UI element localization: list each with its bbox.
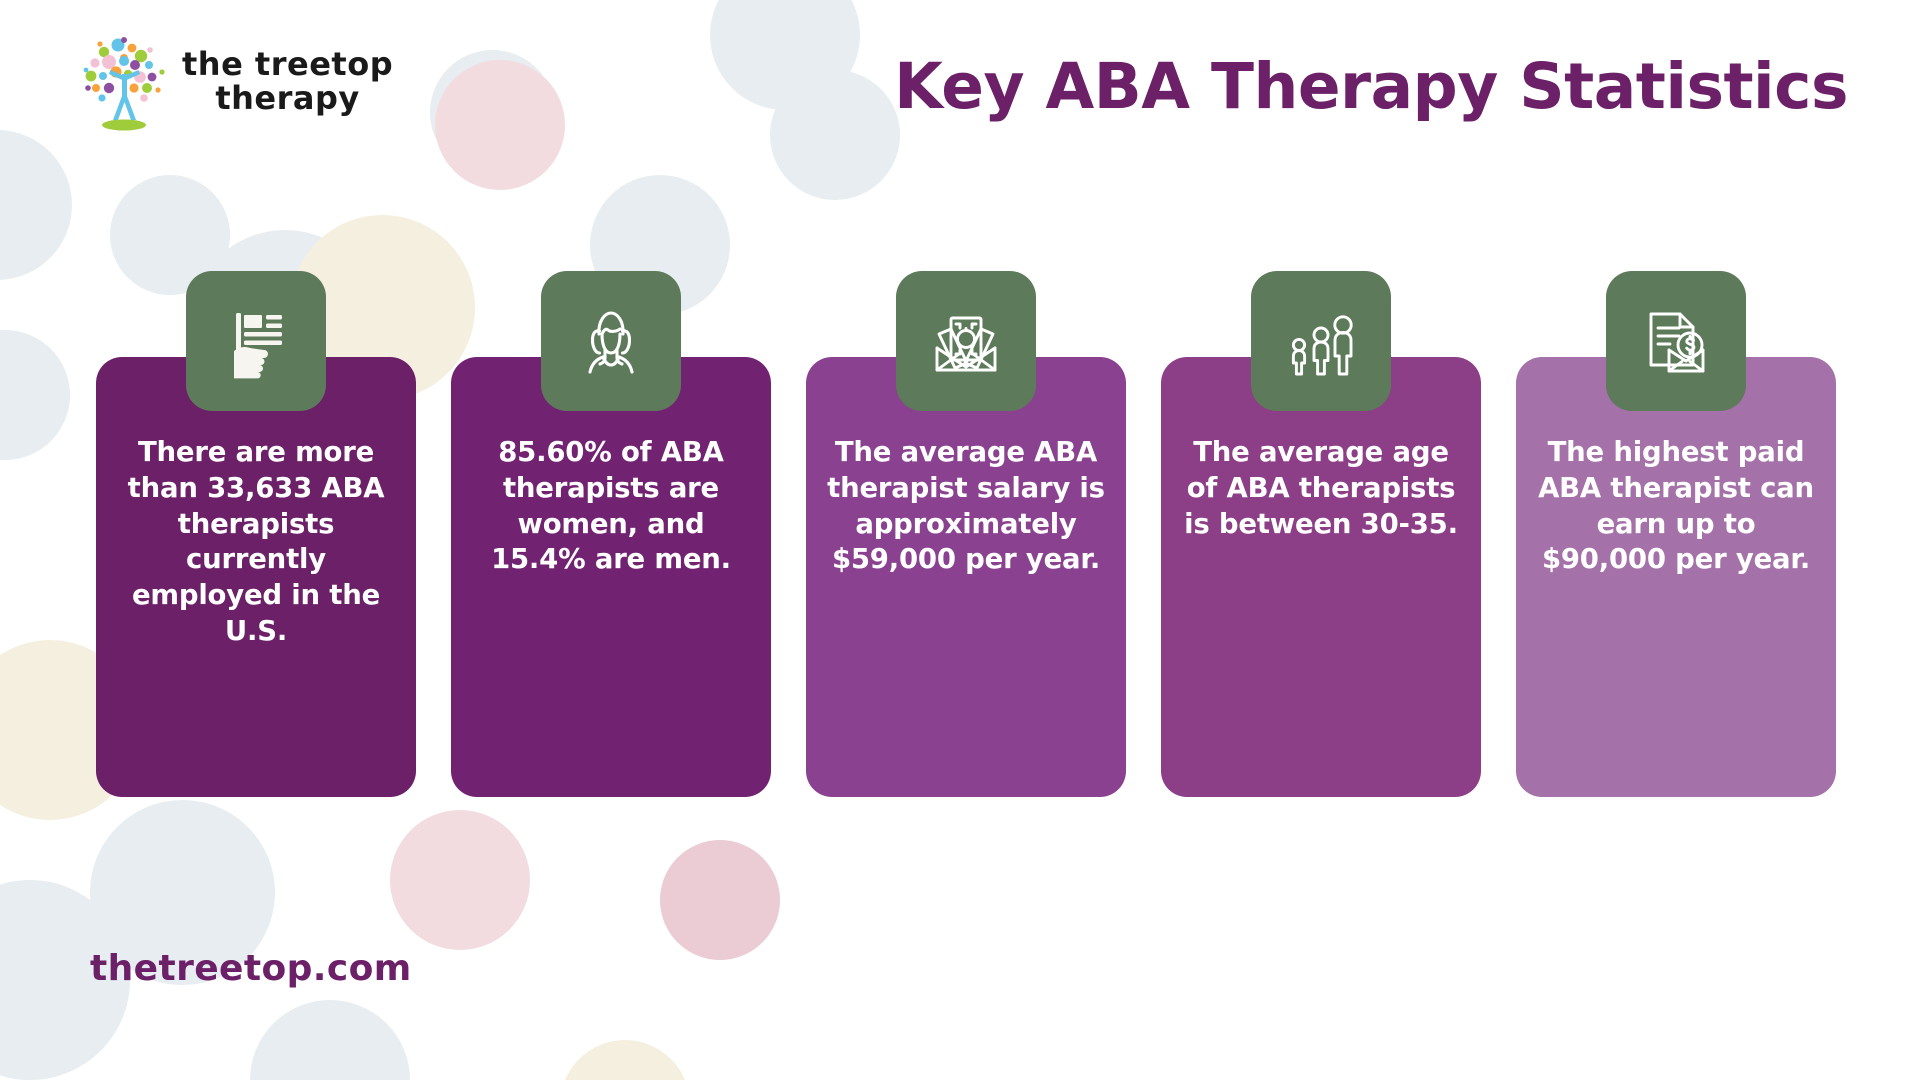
hand-holding-document-icon — [186, 271, 326, 411]
stat-card[interactable]: The average ABA therapist salary is appr… — [806, 357, 1126, 797]
decor-circle — [770, 70, 900, 200]
decor-circle — [440, 60, 560, 180]
brand-logo-line1: the treetop — [182, 45, 393, 83]
brand-logo-line2: therapy — [182, 82, 393, 116]
stat-card[interactable]: The highest paid ABA therapist can earn … — [1516, 357, 1836, 797]
decor-circle — [0, 130, 72, 280]
three-people-growth-icon — [1251, 271, 1391, 411]
stat-card-row: There are more than 33,633 ABA therapist… — [96, 357, 1836, 797]
decor-circle — [250, 1000, 410, 1080]
stat-card-text: The average ABA therapist salary is appr… — [824, 435, 1108, 777]
brand-logo[interactable]: the treetop therapy — [78, 32, 393, 132]
decor-circle — [430, 50, 555, 175]
envelope-with-money-icon — [896, 271, 1036, 411]
decor-circle — [560, 1040, 690, 1080]
treetop-tree-logo-icon — [78, 32, 170, 132]
page-title: Key ABA Therapy Statistics — [894, 50, 1848, 123]
decor-circle — [710, 0, 860, 110]
decor-circle — [390, 810, 530, 950]
decor-circle — [435, 60, 565, 190]
stat-card-text: 85.60% of ABA therapists are women, and … — [469, 435, 753, 777]
woman-portrait-icon — [541, 271, 681, 411]
infographic-canvas: the treetop therapy Key ABA Therapy Stat… — [0, 0, 1920, 1080]
stat-card-text: The average age of ABA therapists is bet… — [1179, 435, 1463, 777]
decor-circle — [660, 840, 780, 960]
footer-url[interactable]: thetreetop.com — [90, 948, 412, 989]
document-envelope-dollar-icon — [1606, 271, 1746, 411]
stat-card-text: The highest paid ABA therapist can earn … — [1534, 435, 1818, 777]
decor-circle — [0, 330, 70, 460]
stat-card[interactable]: 85.60% of ABA therapists are women, and … — [451, 357, 771, 797]
stat-card[interactable]: There are more than 33,633 ABA therapist… — [96, 357, 416, 797]
stat-card[interactable]: The average age of ABA therapists is bet… — [1161, 357, 1481, 797]
brand-logo-text: the treetop therapy — [182, 48, 393, 116]
stat-card-text: There are more than 33,633 ABA therapist… — [114, 435, 398, 777]
